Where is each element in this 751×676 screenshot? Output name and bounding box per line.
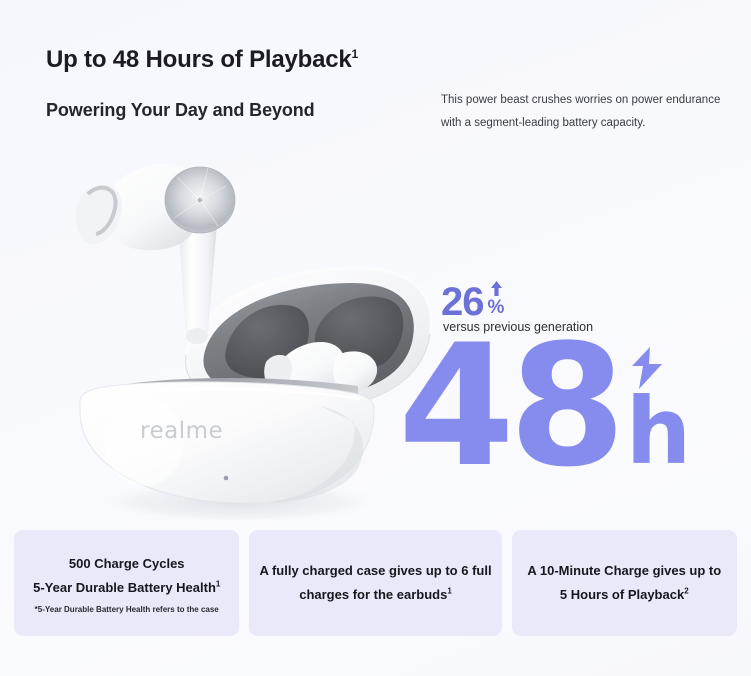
- hours-unit: h: [626, 378, 692, 485]
- feature-card-charge-cycles[interactable]: 500 Charge Cycles 5-Year Durable Battery…: [14, 530, 239, 636]
- card-line-text: charges for the earbuds: [299, 587, 447, 602]
- page-headline: Up to 48 Hours of Playback1: [46, 46, 358, 74]
- card-footnote-marker: 1: [447, 587, 451, 596]
- hours-value: 48: [398, 338, 620, 476]
- case-body: [80, 378, 374, 503]
- card-line-text: 5-Year Durable Battery Health: [33, 580, 216, 595]
- card-footnote: *5-Year Durable Battery Health refers to…: [35, 605, 219, 614]
- card-footnote-marker: 2: [684, 587, 688, 596]
- card-line: 500 Charge Cycles: [69, 552, 185, 576]
- realme-logo-text: realme: [140, 418, 223, 444]
- page-subheadline: Powering Your Day and Beyond: [46, 100, 315, 121]
- led-indicator: [224, 476, 229, 481]
- card-line: charges for the earbuds1: [299, 583, 452, 607]
- feature-cards: 500 Charge Cycles 5-Year Durable Battery…: [14, 530, 737, 636]
- card-line: 5 Hours of Playback2: [560, 583, 689, 607]
- description-paragraph: This power beast crushes worries on powe…: [441, 89, 741, 135]
- feature-page: Up to 48 Hours of Playback1 Powering You…: [0, 0, 751, 676]
- hours-unit-group: h: [626, 391, 692, 476]
- lightning-bolt-icon: [630, 347, 664, 389]
- hours-stat: 48 h: [398, 338, 691, 476]
- feature-card-case-charges[interactable]: A fully charged case gives up to 6 full …: [249, 530, 501, 636]
- up-arrow-icon: [490, 281, 503, 296]
- card-line: A 10-Minute Charge gives up to: [527, 559, 721, 583]
- card-line-text: 5 Hours of Playback: [560, 587, 684, 602]
- feature-card-fast-charge[interactable]: A 10-Minute Charge gives up to 5 Hours o…: [512, 530, 737, 636]
- card-line: 5-Year Durable Battery Health1: [33, 576, 220, 600]
- card-line: A fully charged case gives up to 6 full: [259, 559, 491, 583]
- card-footnote-marker: 1: [216, 580, 220, 589]
- headline-footnote-marker: 1: [352, 47, 358, 61]
- headline-text: Up to 48 Hours of Playback: [46, 46, 352, 73]
